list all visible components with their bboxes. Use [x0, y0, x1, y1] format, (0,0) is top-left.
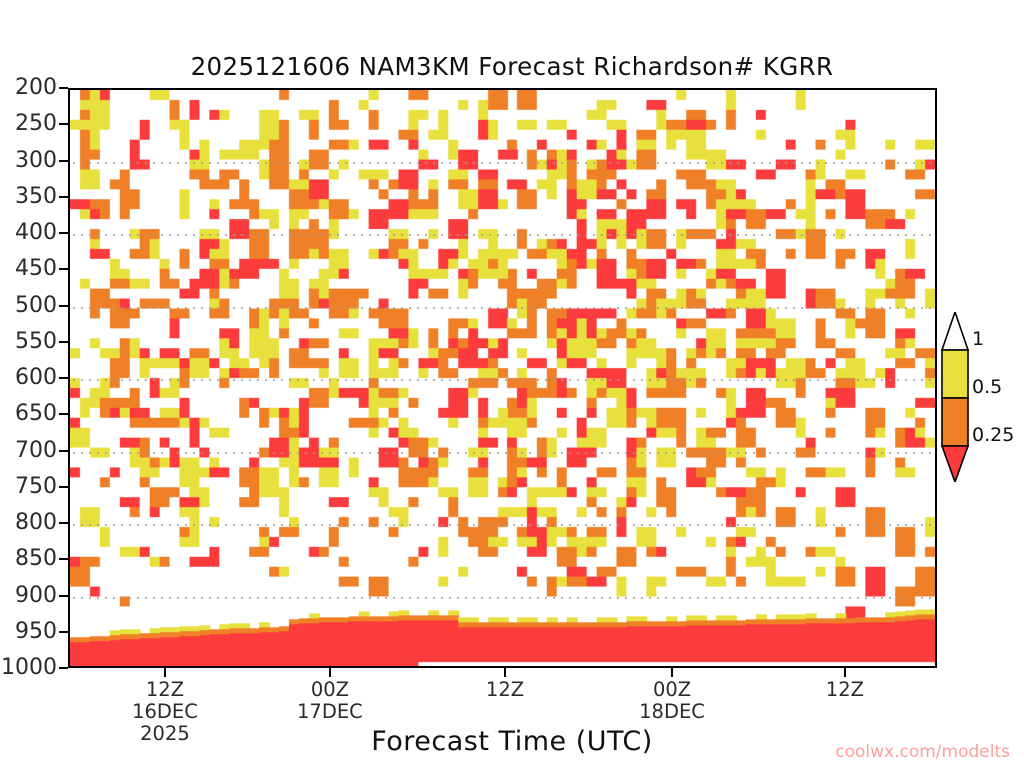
y-tick-label: 800: [15, 512, 57, 534]
colorbar-swatches: [938, 312, 972, 482]
y-tick-mark: [59, 232, 68, 234]
x-tick-mark: [164, 668, 166, 677]
y-tick-label: 450: [15, 258, 57, 280]
x-tick-label: 17DEC: [297, 702, 363, 722]
chart-title: 2025121606 NAM3KM Forecast Richardson# K…: [0, 52, 1024, 81]
y-tick-label: 200: [15, 77, 57, 99]
watermark: coolwx.com/modelts: [835, 742, 1010, 762]
x-tick-mark: [671, 668, 673, 677]
x-tick-mark: [329, 668, 331, 677]
x-tick-label: 18DEC: [639, 702, 705, 722]
x-tick-label: 12Z: [146, 680, 184, 700]
y-tick-mark: [59, 522, 68, 524]
y-tick-mark: [59, 341, 68, 343]
y-tick-mark: [59, 196, 68, 198]
y-tick-label: 250: [15, 113, 57, 135]
y-tick-label: 600: [15, 367, 57, 389]
y-tick-mark: [59, 450, 68, 452]
y-tick-label: 850: [15, 548, 57, 570]
y-tick-label: 300: [15, 150, 57, 172]
colorbar-label: 1: [972, 330, 984, 349]
legend-colorbar[interactable]: 10.50.25: [938, 312, 972, 482]
y-tick-label: 750: [15, 476, 57, 498]
y-tick-mark: [59, 558, 68, 560]
y-tick-mark: [59, 268, 68, 270]
x-tick-mark: [504, 668, 506, 677]
y-tick-mark: [59, 486, 68, 488]
colorbar-label: 0.5: [972, 378, 1002, 397]
colorbar-label: 0.25: [972, 426, 1014, 445]
x-tick-label: 00Z: [653, 680, 691, 700]
y-axis: 2002503003504004505005506006507007508008…: [0, 88, 68, 668]
plot-area[interactable]: [68, 88, 937, 668]
y-tick-label: 700: [15, 440, 57, 462]
y-tick-label: 900: [15, 585, 57, 607]
y-tick-label: 400: [15, 222, 57, 244]
x-tick-mark: [844, 668, 846, 677]
x-tick-label: 00Z: [311, 680, 349, 700]
x-tick-label: 12Z: [826, 680, 864, 700]
y-tick-mark: [59, 595, 68, 597]
y-tick-mark: [59, 123, 68, 125]
y-tick-label: 650: [15, 403, 57, 425]
y-tick-mark: [59, 160, 68, 162]
y-tick-label: 550: [15, 331, 57, 353]
y-tick-label: 950: [15, 621, 57, 643]
y-tick-mark: [59, 87, 68, 89]
x-tick-label: 12Z: [486, 680, 524, 700]
y-tick-mark: [59, 305, 68, 307]
heatmap-canvas: [70, 90, 935, 666]
y-tick-label: 500: [15, 295, 57, 317]
y-tick-mark: [59, 413, 68, 415]
y-tick-mark: [59, 377, 68, 379]
y-tick-mark: [59, 631, 68, 633]
x-tick-label: 16DEC: [132, 702, 198, 722]
y-tick-label: 350: [15, 186, 57, 208]
chart-root: 2025121606 NAM3KM Forecast Richardson# K…: [0, 0, 1024, 768]
